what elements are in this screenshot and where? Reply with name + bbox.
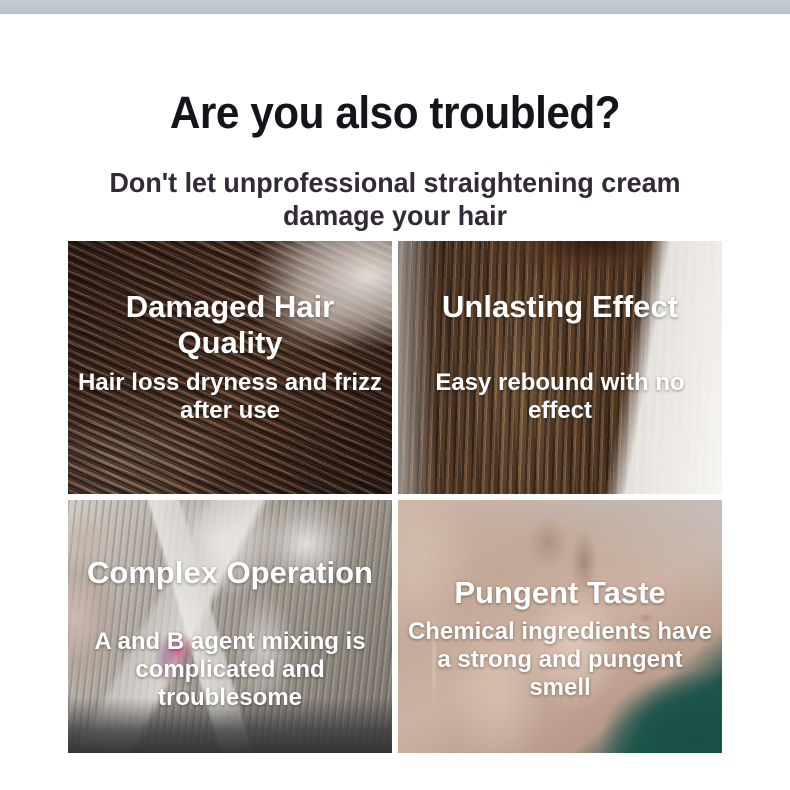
damaged-hair-photo [68, 241, 392, 494]
top-accent-bar [0, 0, 790, 14]
tile-title: Unlasting Effect [398, 289, 722, 325]
tile-subtitle: Easy rebound with no effect [398, 369, 722, 425]
problem-tile-grid: Damaged Hair Quality Hair loss dryness a… [68, 241, 722, 757]
tile-title: Complex Operation [68, 555, 392, 591]
problem-tile-unlasting-effect[interactable]: Unlasting Effect Easy rebound with no ef… [398, 241, 722, 494]
tile-subtitle: A and B agent mixing is complicated and … [68, 628, 392, 712]
problem-tile-pungent-taste[interactable]: Pungent Taste Chemical ingredients have … [398, 500, 722, 753]
tile-title: Pungent Taste [398, 575, 722, 611]
problem-tile-complex-operation[interactable]: Complex Operation A and B agent mixing i… [68, 500, 392, 753]
tile-title: Damaged Hair Quality [68, 289, 392, 361]
tile-subtitle: Hair loss dryness and frizz after use [68, 369, 392, 425]
long-hair-photo [398, 241, 722, 494]
salon-foil-photo [68, 500, 392, 753]
page-headline: Are you also troubled? [24, 88, 767, 138]
tile-subtitle: Chemical ingredients have a strong and p… [398, 618, 722, 702]
problem-tile-damaged-hair-quality[interactable]: Damaged Hair Quality Hair loss dryness a… [68, 241, 392, 494]
page-subheadline: Don't let unprofessional straightening c… [59, 166, 731, 232]
